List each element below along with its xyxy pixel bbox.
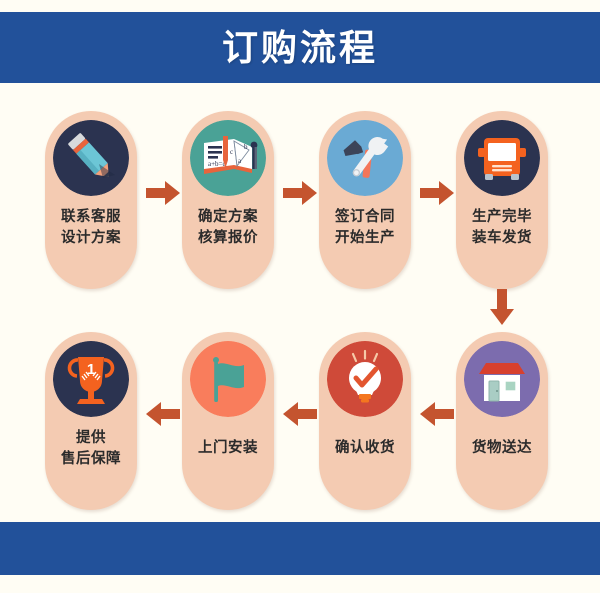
step-1[interactable]: 联系客服 设计方案 xyxy=(45,111,137,289)
trophy-icon: 1 xyxy=(53,341,129,417)
arrow-7-8 xyxy=(146,400,180,428)
step-8-caption: 提供 售后保障 xyxy=(45,428,137,470)
step-2[interactable]: a+b=c c b a 确定方案 核算报价 xyxy=(182,111,274,289)
blueprint-compass-icon: a+b=c c b a xyxy=(190,120,266,196)
step-7-caption: 上门安装 xyxy=(182,438,274,459)
page-title: 订购流程 xyxy=(222,30,378,66)
footer-banner xyxy=(0,522,600,575)
step-8[interactable]: 1 提供 售后保障 xyxy=(45,332,137,510)
arrow-6-7 xyxy=(283,400,317,428)
arrow-5-6 xyxy=(420,400,454,428)
hammer-wrench-icon xyxy=(327,120,403,196)
pencil-icon xyxy=(53,120,129,196)
page-title-banner: 订购流程 xyxy=(0,12,600,83)
svg-text:a+b=c: a+b=c xyxy=(208,160,226,168)
step-6[interactable]: 确认收货 xyxy=(319,332,411,510)
step-1-caption: 联系客服 设计方案 xyxy=(45,207,137,249)
arrow-4-5 xyxy=(488,289,516,325)
step-5-caption: 货物送达 xyxy=(456,438,548,459)
process-flow-diagram: 联系客服 设计方案 a+b=c c b a xyxy=(0,83,600,522)
svg-text:b: b xyxy=(244,143,248,151)
step-3-caption: 签订合同 开始生产 xyxy=(319,207,411,249)
flag-icon xyxy=(190,341,266,417)
lightbulb-check-icon xyxy=(327,341,403,417)
arrow-2-3 xyxy=(283,179,317,207)
svg-text:c: c xyxy=(230,148,233,156)
arrow-3-4 xyxy=(420,179,454,207)
step-3[interactable]: 签订合同 开始生产 xyxy=(319,111,411,289)
house-icon xyxy=(464,341,540,417)
step-2-caption: 确定方案 核算报价 xyxy=(182,207,274,249)
step-4[interactable]: 生产完毕 装车发货 xyxy=(456,111,548,289)
step-7[interactable]: 上门安装 xyxy=(182,332,274,510)
step-4-caption: 生产完毕 装车发货 xyxy=(456,207,548,249)
arrow-1-2 xyxy=(146,179,180,207)
truck-icon xyxy=(464,120,540,196)
step-6-caption: 确认收货 xyxy=(319,438,411,459)
step-5[interactable]: 货物送达 xyxy=(456,332,548,510)
